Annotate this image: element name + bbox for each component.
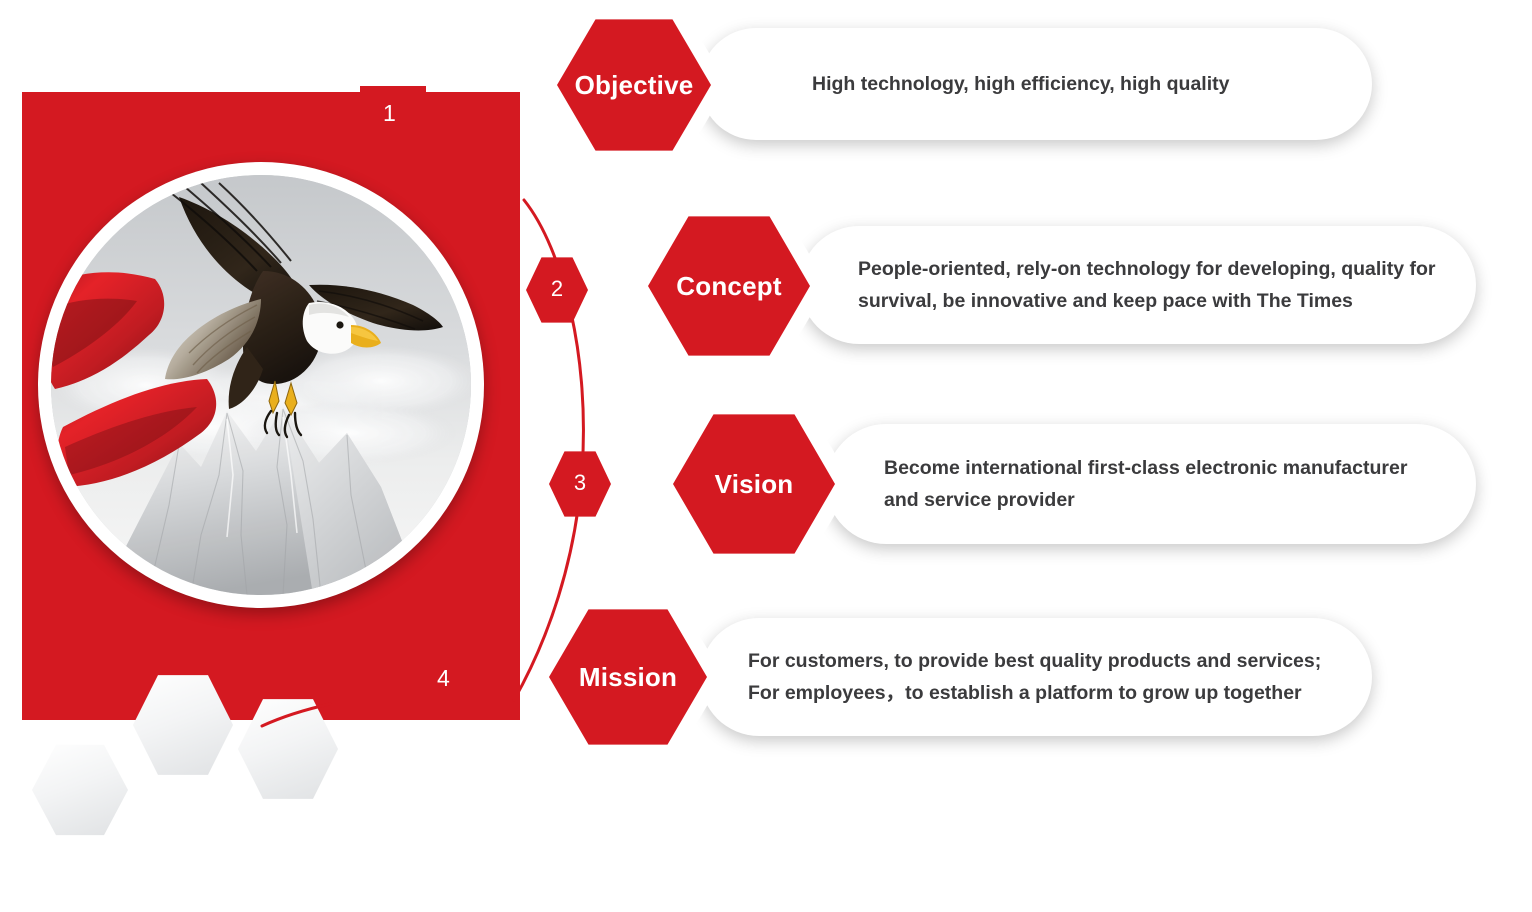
eagle-photo-disc: [51, 175, 471, 595]
vision-hexagon[interactable]: Vision: [655, 398, 853, 570]
concept-text: People-oriented, rely-on technology for …: [858, 253, 1435, 317]
objective-label: Objective: [575, 72, 694, 98]
eagle-over-mountain-photo: [51, 175, 471, 595]
concept-label: Concept: [676, 273, 781, 299]
connector-marker-3-label: 3: [574, 472, 586, 496]
objective-hexagon-fill: Objective: [557, 18, 711, 152]
vision-hexagon-fill: Vision: [673, 413, 835, 555]
concept-hexagon-fill: Concept: [648, 215, 810, 357]
infographic-canvas: 1 4: [0, 0, 1532, 912]
panel-number-one: 1: [383, 102, 396, 125]
decorative-hexagon-a: [32, 742, 128, 838]
concept-hexagon[interactable]: Concept: [630, 200, 828, 372]
vision-label: Vision: [715, 471, 794, 497]
decorative-red-curve: [230, 690, 360, 750]
concept-card[interactable]: People-oriented, rely-on technology for …: [800, 226, 1476, 344]
mission-text: For customers, to provide best quality p…: [748, 645, 1321, 709]
panel-number-four: 4: [437, 667, 450, 690]
eagle-photo-ring: [38, 162, 484, 608]
objective-card[interactable]: High technology, high efficiency, high q…: [700, 28, 1372, 140]
mission-card[interactable]: For customers, to provide best quality p…: [700, 618, 1372, 736]
connector-marker-2-label: 2: [551, 278, 563, 302]
objective-text: High technology, high efficiency, high q…: [812, 68, 1229, 100]
vision-card[interactable]: Become international first-class electro…: [826, 424, 1476, 544]
mission-hexagon-fill: Mission: [549, 608, 707, 746]
vision-text: Become international first-class electro…: [884, 452, 1407, 516]
mission-label: Mission: [579, 664, 677, 690]
